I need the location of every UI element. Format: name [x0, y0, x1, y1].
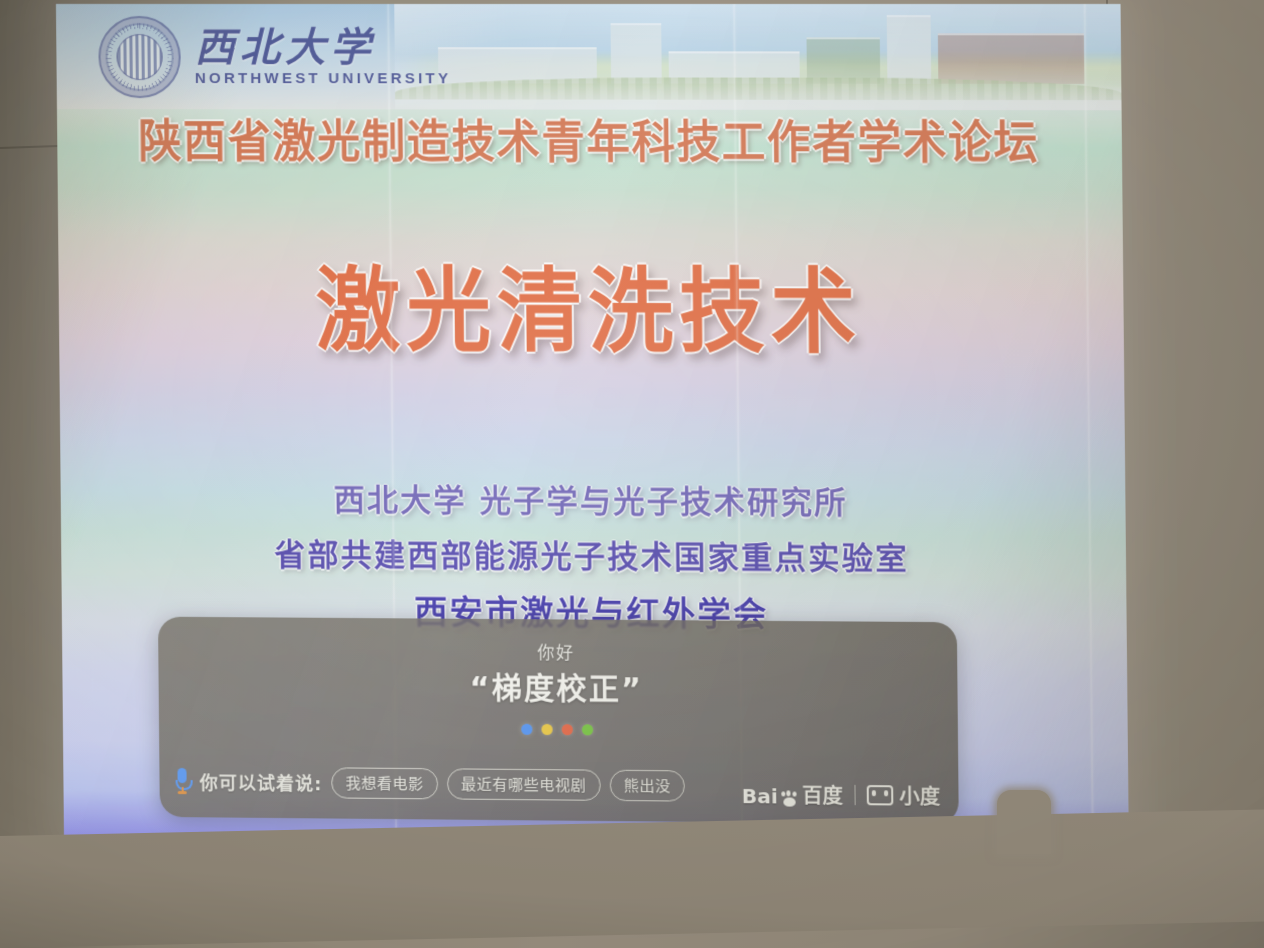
university-lockup: 西北大学 NORTHWEST UNIVERSITY	[98, 16, 451, 98]
microphone-icon[interactable]	[175, 768, 188, 795]
affiliation-line-1: 西北大学 光子学与光子技术研究所	[60, 472, 1125, 532]
dot-green	[581, 724, 592, 735]
main-title: 激光清洗技术	[58, 260, 1124, 364]
university-name-en: NORTHWEST UNIVERSITY	[195, 70, 452, 87]
affiliation-line-2: 省部共建西部能源光子技术国家重点实验室	[61, 526, 1126, 589]
xiaodu-face-icon	[867, 785, 894, 805]
brand-divider	[854, 784, 856, 804]
dot-blue	[521, 724, 532, 735]
slide-canvas: 西北大学 NORTHWEST UNIVERSITY 陕西省激光制造技术青年科技工…	[56, 4, 1129, 850]
baidu-logo-cn: 百度	[802, 779, 843, 809]
projection-screen: 西北大学 NORTHWEST UNIVERSITY 陕西省激光制造技术青年科技工…	[56, 4, 1129, 850]
baidu-logo: Bai 百度	[741, 779, 843, 809]
suggestion-chip-3[interactable]: 熊出没	[609, 770, 685, 802]
conference-room: 西北大学 NORTHWEST UNIVERSITY 陕西省激光制造技术青年科技工…	[0, 0, 1264, 948]
xiaodu-lockup: 小度	[867, 780, 941, 810]
dot-red	[561, 724, 572, 735]
baidu-logo-latin: Bai	[741, 784, 777, 809]
campus-photo	[394, 4, 1122, 110]
university-names: 西北大学 NORTHWEST UNIVERSITY	[194, 27, 451, 87]
brand-lockup: Bai 百度 小度	[741, 779, 940, 810]
dot-yellow	[541, 724, 552, 735]
university-seal-icon	[98, 16, 181, 98]
forum-banner: 陕西省激光制造技术青年科技工作者学术论坛	[57, 112, 1122, 174]
person-head-silhouette	[997, 790, 1051, 854]
voice-assistant-overlay[interactable]: 你好 “梯度校正” 你可以试着说: 我想看电影 最近有哪些电视剧	[158, 617, 959, 825]
suggestion-chip-2[interactable]: 最近有哪些电视剧	[447, 768, 601, 801]
xiaodu-name: 小度	[899, 780, 940, 810]
slide-header-band: 西北大学 NORTHWEST UNIVERSITY	[56, 4, 1122, 110]
recognized-speech-text: “梯度校正”	[158, 661, 957, 711]
wall-seam-left	[0, 145, 58, 149]
baidu-paw-icon	[780, 791, 800, 808]
suggestion-chip-1[interactable]: 我想看电影	[331, 767, 438, 799]
suggestion-row: 你可以试着说: 我想看电影 最近有哪些电视剧 熊出没	[175, 766, 685, 802]
main-title-text: 激光清洗技术	[315, 257, 863, 368]
forum-title-text: 陕西省激光制造技术青年科技工作者学术论坛	[138, 110, 1039, 175]
suggestion-label: 你可以试着说:	[200, 769, 323, 796]
university-name-cn: 西北大学	[194, 27, 451, 69]
loading-dots	[159, 721, 958, 739]
